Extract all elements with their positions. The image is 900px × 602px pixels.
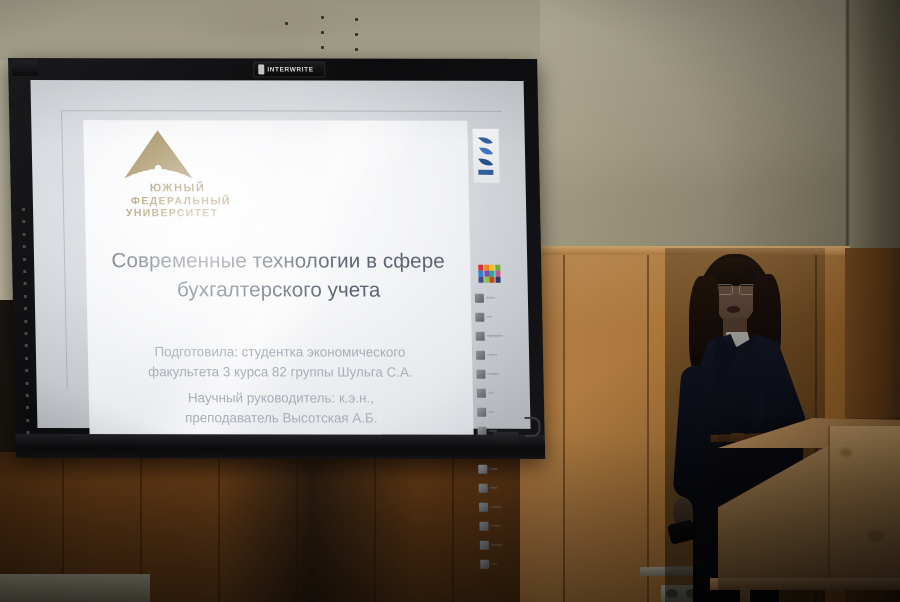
toolbar-item-settings-icon[interactable]: Settings (480, 536, 512, 555)
color-palette-icon[interactable] (478, 265, 500, 283)
toolbar-item-label: Settings (491, 543, 503, 547)
toolbar-app-logo-icon (473, 129, 500, 183)
tool-glyph-icon (475, 294, 484, 303)
interwrite-brand-label: INTERWRITE (267, 66, 313, 73)
university-logo-text: ЮЖНЫЙ ФЕДЕРАЛЬНЫЙ УНИВЕРСИТЕТ (103, 182, 254, 220)
whiteboard-corner-tab (12, 60, 38, 76)
toolbar-item-line-icon[interactable]: Line (477, 403, 509, 422)
tool-glyph-icon (475, 313, 484, 322)
tool-glyph-icon (478, 465, 487, 474)
tool-glyph-icon (479, 484, 488, 493)
toolbar-item-label: Exit (491, 562, 497, 566)
toolbar-item-exit-icon[interactable]: Exit (480, 555, 512, 574)
toolbar-item-gallery-icon[interactable]: Gallery (479, 517, 511, 536)
toolbar-item-shapes-icon[interactable]: Shapes (476, 365, 508, 384)
toolbar-item-label: Capture (490, 505, 502, 509)
sunburst-emblem-icon (121, 128, 194, 180)
subtitle-author-line-1: Подготовила: студентка экономического (154, 344, 405, 359)
tool-glyph-icon (476, 351, 485, 360)
toolbar-item-highlighter-icon[interactable]: Highlighter (475, 327, 507, 346)
toolbar-item-page-icon[interactable]: Page (479, 479, 511, 498)
projected-slide: ЮЖНЫЙ ФЕДЕРАЛЬНЫЙ УНИВЕРСИТЕТ Современны… (83, 120, 474, 441)
tool-glyph-icon (477, 408, 486, 417)
tool-glyph-icon (476, 332, 485, 341)
toolbar-item-capture-icon[interactable]: Capture (479, 498, 511, 517)
whiteboard-pen-tray[interactable] (16, 434, 546, 459)
interactive-whiteboard[interactable]: INTERWRITE (8, 58, 545, 459)
toolbar-item-label: Pen (486, 315, 492, 319)
logo-line-1: ЮЖНЫЙ (103, 182, 253, 195)
tray-cable-hook (524, 417, 540, 437)
tool-glyph-icon (479, 522, 488, 531)
toolbar-item-label: Select (486, 296, 496, 300)
toolbar-item-text-icon[interactable]: Text (477, 384, 509, 403)
subtitle-author-line-2: факультета 3 курса 82 группы Шульга С.А. (148, 364, 413, 379)
logo-line-2: ФЕДЕРАЛЬНЫЙ (109, 195, 253, 208)
toolbar-item-label: Line (488, 410, 494, 414)
tray-clip (493, 432, 519, 443)
baseboard-strip (0, 574, 150, 602)
tool-glyph-icon (479, 503, 488, 512)
toolbar-item-label: Gallery (490, 524, 501, 528)
lectern (718, 418, 900, 602)
toolbar-item-eraser-icon[interactable]: Eraser (476, 346, 508, 365)
wall-mounting-holes (285, 10, 365, 48)
subtitle-advisor-line-1: Научный руководитель: к.э.н., (103, 388, 459, 409)
toolbar-item-label: Shapes (487, 372, 499, 376)
toolbar-item-clear-icon[interactable]: Clear (478, 460, 510, 479)
interwrite-logo-icon (258, 64, 264, 74)
toolbar-item-label: Clear (489, 467, 497, 471)
tool-glyph-icon (480, 560, 489, 569)
toolbar-item-pen-icon[interactable]: Pen (475, 308, 507, 327)
whiteboard-software-toolbar[interactable]: SelectPenHighlighterEraserShapesTextLine… (471, 129, 510, 385)
logo-line-3: УНИВЕРСИТЕТ (91, 207, 253, 220)
lectern-side-panel (830, 426, 900, 582)
lectern-front-panel (718, 442, 834, 584)
toolbar-item-list[interactable]: SelectPenHighlighterEraserShapesTextLine… (475, 289, 509, 385)
tool-glyph-icon (477, 389, 486, 398)
subtitle-advisor-line-2: преподаватель Высотская А.Б. (185, 411, 378, 426)
wall-corner-right (848, 0, 900, 262)
toolbar-item-label: Page (490, 486, 498, 490)
presenter-mouth (727, 306, 740, 313)
presenter-glasses (716, 284, 754, 293)
lectern-table-leg (740, 588, 750, 602)
slide-title: Современные технологии в сфере бухгалтер… (94, 246, 463, 305)
whiteboard-surface[interactable]: ЮЖНЫЙ ФЕДЕРАЛЬНЫЙ УНИВЕРСИТЕТ Современны… (30, 80, 530, 429)
toolbar-item-label: Highlighter (487, 334, 503, 338)
wall-corner-edge (846, 0, 849, 262)
photo-scene: INTERWRITE (0, 0, 900, 602)
interwrite-brand-badge: INTERWRITE (253, 61, 325, 77)
lectern-base-table (710, 578, 900, 590)
university-logo: ЮЖНЫЙ ФЕДЕРАЛЬНЫЙ УНИВЕРСИТЕТ (101, 128, 253, 220)
tool-glyph-icon (476, 370, 485, 379)
toolbar-item-label: Text (488, 391, 494, 395)
toolbar-item-label: Eraser (487, 353, 497, 357)
toolbar-item-select-icon[interactable]: Select (475, 289, 507, 308)
slide-subtitle: Подготовила: студентка экономического фа… (102, 342, 460, 429)
tool-glyph-icon (480, 541, 489, 550)
